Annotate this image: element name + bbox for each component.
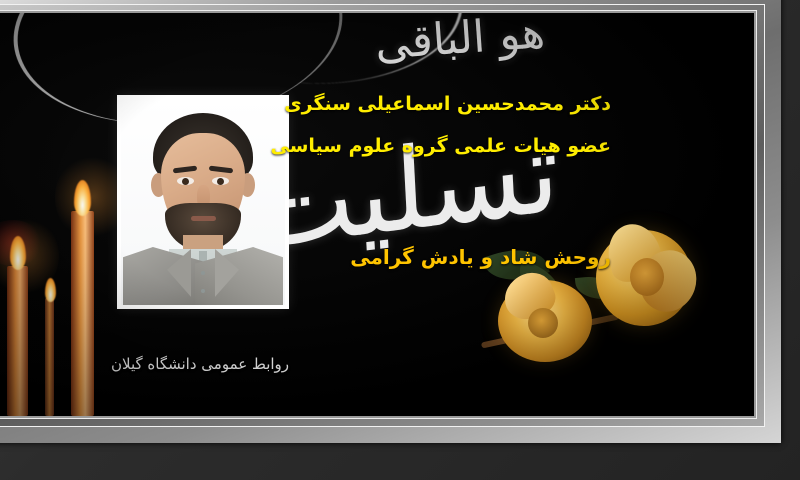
picture-frame: تسلیت هو الباقی bbox=[0, 0, 781, 443]
poster-canvas: تسلیت هو الباقی bbox=[0, 13, 754, 416]
candle-glow-1 bbox=[0, 216, 59, 296]
candle-flame-icon-1 bbox=[10, 236, 26, 270]
portrait-mouth bbox=[191, 216, 216, 221]
deceased-name: دکتر محمدحسین اسماعیلی سنگری bbox=[284, 93, 611, 115]
swoosh-decoration-secondary-icon bbox=[137, 13, 468, 94]
rose-flower-2 bbox=[498, 280, 592, 362]
portrait-photo bbox=[117, 95, 289, 309]
blessing-text: روحش شاد و یادش گرامی bbox=[350, 245, 611, 269]
portrait-pupil-left bbox=[182, 178, 189, 185]
ember-glow bbox=[0, 220, 43, 266]
rose-1-core bbox=[630, 258, 664, 296]
candle-2 bbox=[45, 298, 54, 416]
rose-2-core bbox=[528, 308, 558, 338]
rose-stem bbox=[481, 314, 619, 349]
candle-flame-icon-3 bbox=[74, 180, 91, 216]
rose-1-petal-2 bbox=[632, 243, 704, 319]
rose-1-petal-1 bbox=[602, 219, 666, 286]
rose-2-petal-1 bbox=[498, 266, 561, 326]
issuer-text: روابط عمومی دانشگاه گیلان bbox=[111, 355, 289, 373]
candle-flame-icon-2 bbox=[45, 278, 56, 302]
condolence-poster: تسلیت هو الباقی bbox=[0, 0, 800, 480]
portrait-shirt-button-2 bbox=[201, 289, 205, 293]
candle-1 bbox=[7, 266, 28, 416]
candles-group bbox=[0, 186, 113, 416]
candle-3 bbox=[71, 211, 94, 416]
portrait-pupil-right bbox=[217, 178, 224, 185]
rose-leaf-3 bbox=[575, 274, 617, 302]
portrait-shirt-button-1 bbox=[201, 271, 205, 275]
portrait-image bbox=[121, 99, 285, 305]
deceased-role: عضو هیات علمی گروه علوم سیاسی bbox=[271, 135, 612, 157]
